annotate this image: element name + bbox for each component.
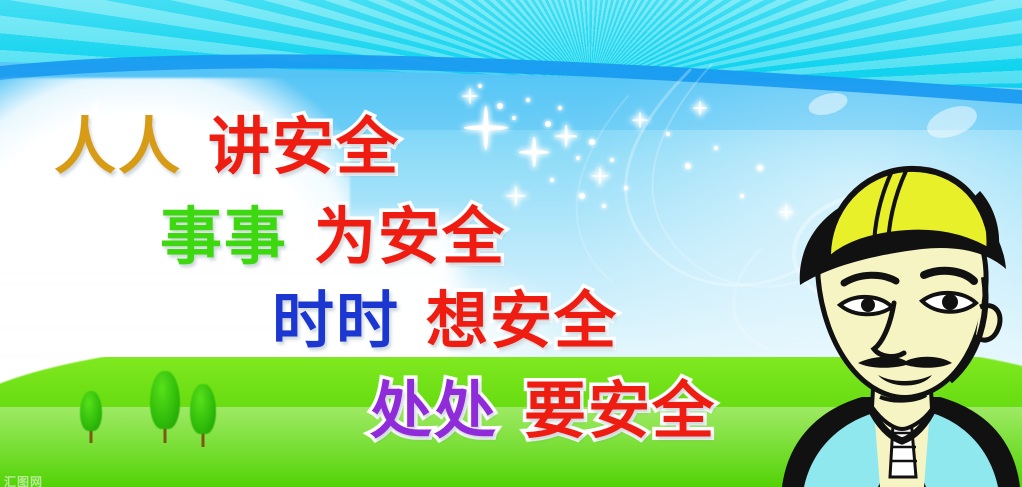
slogan-line-2: 事事 为安全 [160,186,506,276]
safety-slogan-poster: 人人 讲安全 事事 为安全 时时 想安全 处处 要安全 汇图网 [0,0,1022,487]
slogan-line-3: 时时 想安全 [272,270,618,360]
slogan-line-1-suffix: 讲安全 [208,96,400,186]
slogan-line-1-prefix: 人人 [54,96,182,186]
slogan-line-1: 人人 讲安全 [54,96,400,186]
slogan-line-4-suffix: 要安全 [524,360,716,450]
slogan-line-3-prefix: 时时 [272,270,400,360]
slogan-line-3-suffix: 想安全 [426,270,618,360]
slogan-line-2-prefix: 事事 [160,186,288,276]
slogan-line-4: 处处 要安全 [370,360,716,450]
slogan-block: 人人 讲安全 事事 为安全 时时 想安全 处处 要安全 [0,0,1022,487]
slogan-line-4-prefix: 处处 [370,360,498,450]
watermark-text: 汇图网 [4,473,43,487]
slogan-line-2-suffix: 为安全 [314,186,506,276]
